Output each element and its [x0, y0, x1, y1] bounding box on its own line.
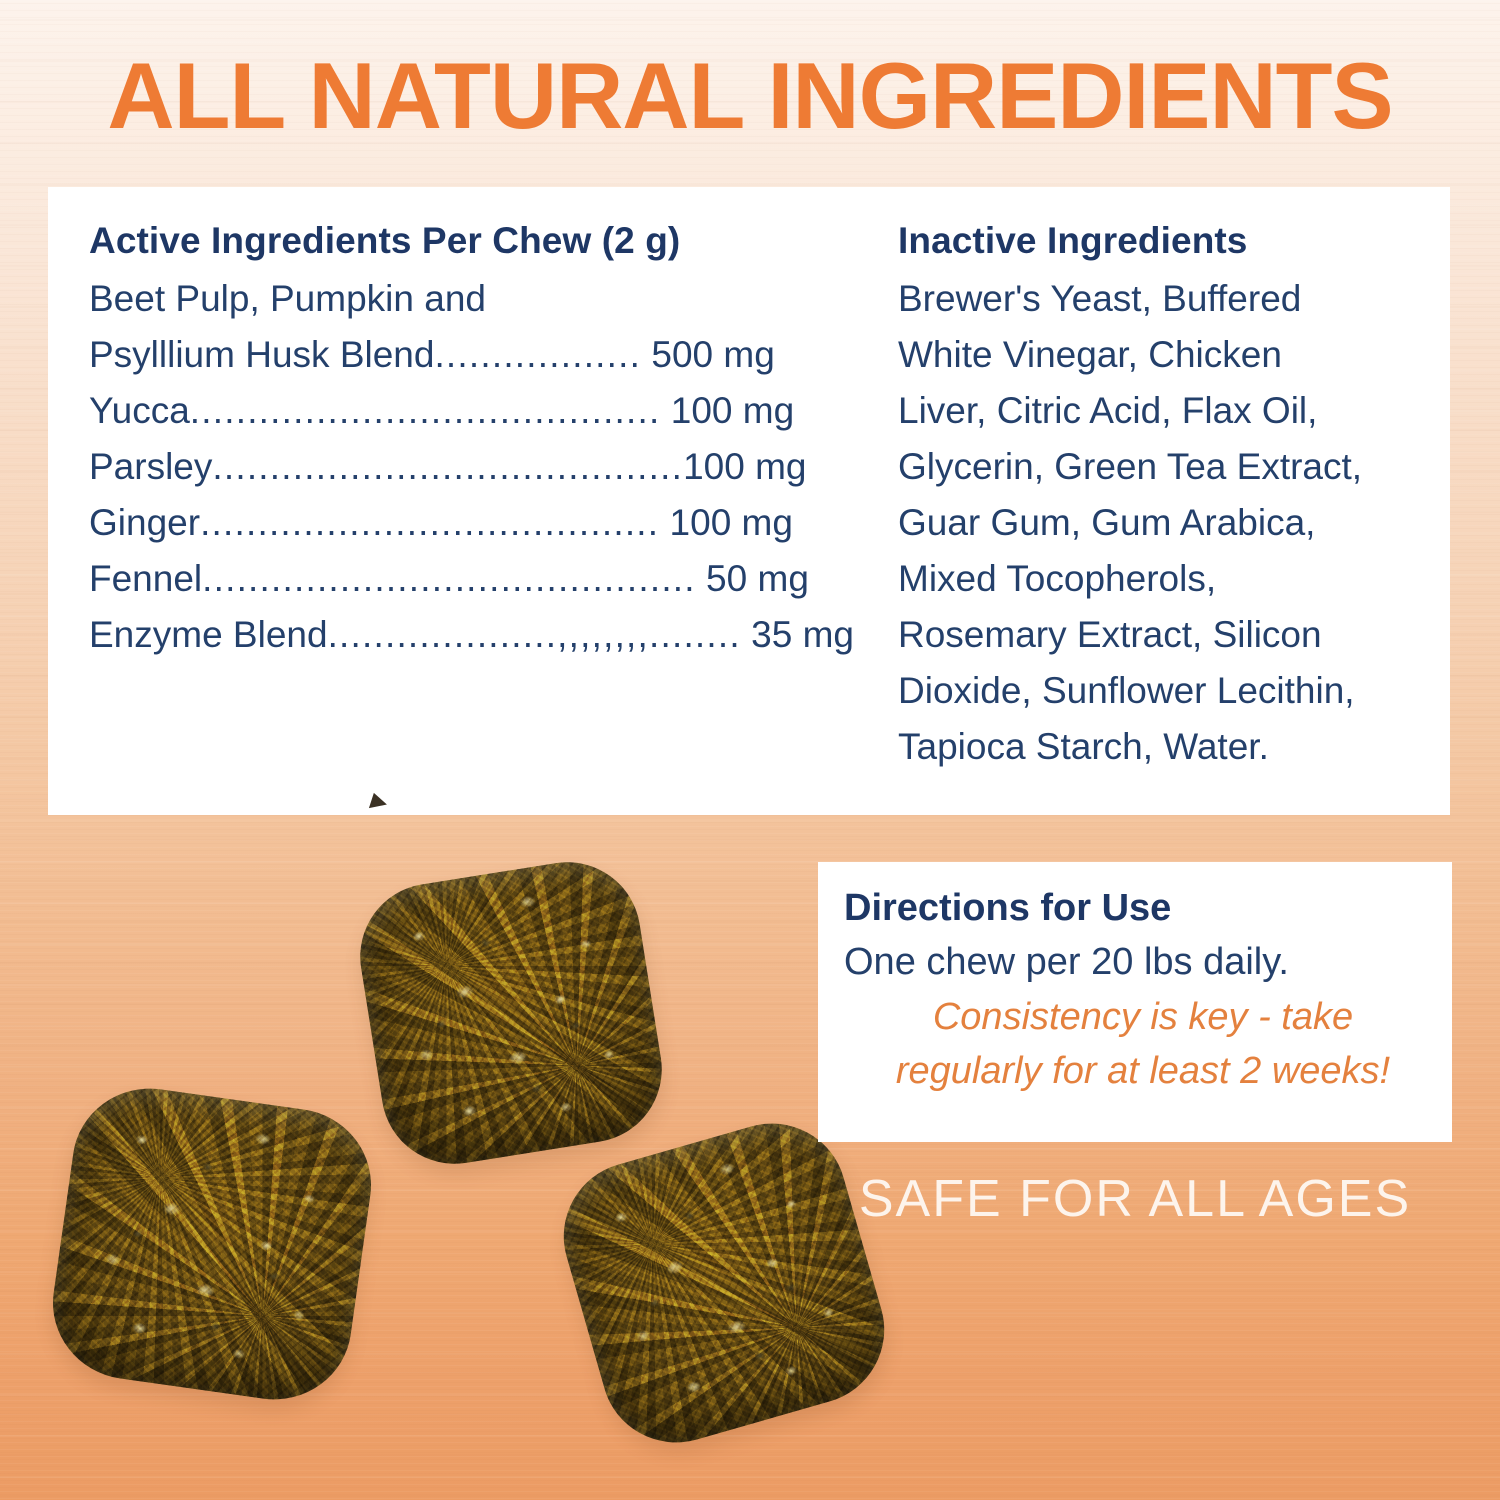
- ingredient-amount: 100 mg: [683, 446, 806, 487]
- ingredient-row: Ginger..................................…: [89, 495, 879, 551]
- inactive-ingredients-list: Brewer's Yeast, Buffered White Vinegar, …: [898, 271, 1443, 775]
- ingredient-amount: 500 mg: [641, 334, 775, 375]
- dot-leader: ....................,,,,,,,,........: [328, 614, 741, 655]
- inactive-line: Guar Gum, Gum Arabica,: [898, 495, 1443, 551]
- ingredient-amount: 100 mg: [659, 502, 793, 543]
- ingredient-name: Parsley: [89, 446, 212, 487]
- active-ingredients-heading: Active Ingredients Per Chew (2 g): [89, 217, 879, 265]
- ingredient-row: Parsley.................................…: [89, 439, 879, 495]
- ingredient-name: Yucca: [89, 390, 190, 431]
- directions-tagline-line2: regularly for at least 2 weeks!: [844, 1044, 1436, 1098]
- ingredient-name: Enzyme Blend: [89, 614, 328, 655]
- ingredient-name: Ginger: [89, 502, 200, 543]
- inactive-line: Glycerin, Green Tea Extract,: [898, 439, 1443, 495]
- inactive-line: Liver, Citric Acid, Flax Oil,: [898, 383, 1443, 439]
- ingredient-row: Fennel..................................…: [89, 551, 879, 607]
- active-ingredients-list: Beet Pulp, Pumpkin and Psylllium Husk Bl…: [89, 271, 879, 663]
- safe-for-all-ages-badge: SAFE FOR ALL AGES: [818, 1168, 1452, 1230]
- ingredient-row: Enzyme Blend....................,,,,,,,,…: [89, 607, 879, 663]
- ingredient-name: Fennel: [89, 558, 202, 599]
- chew-treat-image-top: [350, 852, 673, 1175]
- inactive-line: Brewer's Yeast, Buffered: [898, 271, 1443, 327]
- dot-leader: ........................................…: [212, 446, 683, 487]
- ingredient-name: Psylllium Husk Blend: [89, 334, 434, 375]
- ingredient-amount: 100 mg: [660, 390, 794, 431]
- inactive-ingredients-heading: Inactive Ingredients: [898, 217, 1443, 265]
- ingredient-row: Yucca...................................…: [89, 383, 879, 439]
- directions-dosage: One chew per 20 lbs daily.: [844, 934, 1436, 990]
- ingredient-amount: 50 mg: [696, 558, 809, 599]
- directions-content: Directions for Use One chew per 20 lbs d…: [844, 882, 1436, 1098]
- inactive-line: Mixed Tocopherols,: [898, 551, 1443, 607]
- dot-leader: ........................................: [200, 502, 659, 543]
- dot-leader: ........................................…: [202, 558, 696, 599]
- directions-heading: Directions for Use: [844, 882, 1436, 934]
- active-intro-line: Beet Pulp, Pumpkin and: [89, 271, 879, 327]
- inactive-line: Tapioca Starch, Water.: [898, 719, 1443, 775]
- chew-treat-image-left: [43, 1079, 381, 1410]
- inactive-ingredients-column: Inactive Ingredients Brewer's Yeast, Buf…: [898, 217, 1443, 775]
- dot-leader: ..................: [434, 334, 641, 375]
- active-ingredients-column: Active Ingredients Per Chew (2 g) Beet P…: [89, 217, 879, 663]
- ingredient-amount: 35 mg: [741, 614, 854, 655]
- inactive-line: White Vinegar, Chicken: [898, 327, 1443, 383]
- page-title: ALL NATURAL INGREDIENTS: [8, 44, 1493, 148]
- directions-card: Directions for Use One chew per 20 lbs d…: [818, 862, 1452, 1142]
- directions-tagline-line1: Consistency is key - take: [844, 990, 1436, 1044]
- dot-leader: ........................................…: [190, 390, 661, 431]
- inactive-line: Rosemary Extract, Silicon: [898, 607, 1443, 663]
- ingredients-card: Active Ingredients Per Chew (2 g) Beet P…: [48, 187, 1450, 815]
- ingredient-row: Psylllium Husk Blend.................. 5…: [89, 327, 879, 383]
- inactive-line: Dioxide, Sunflower Lecithin,: [898, 663, 1443, 719]
